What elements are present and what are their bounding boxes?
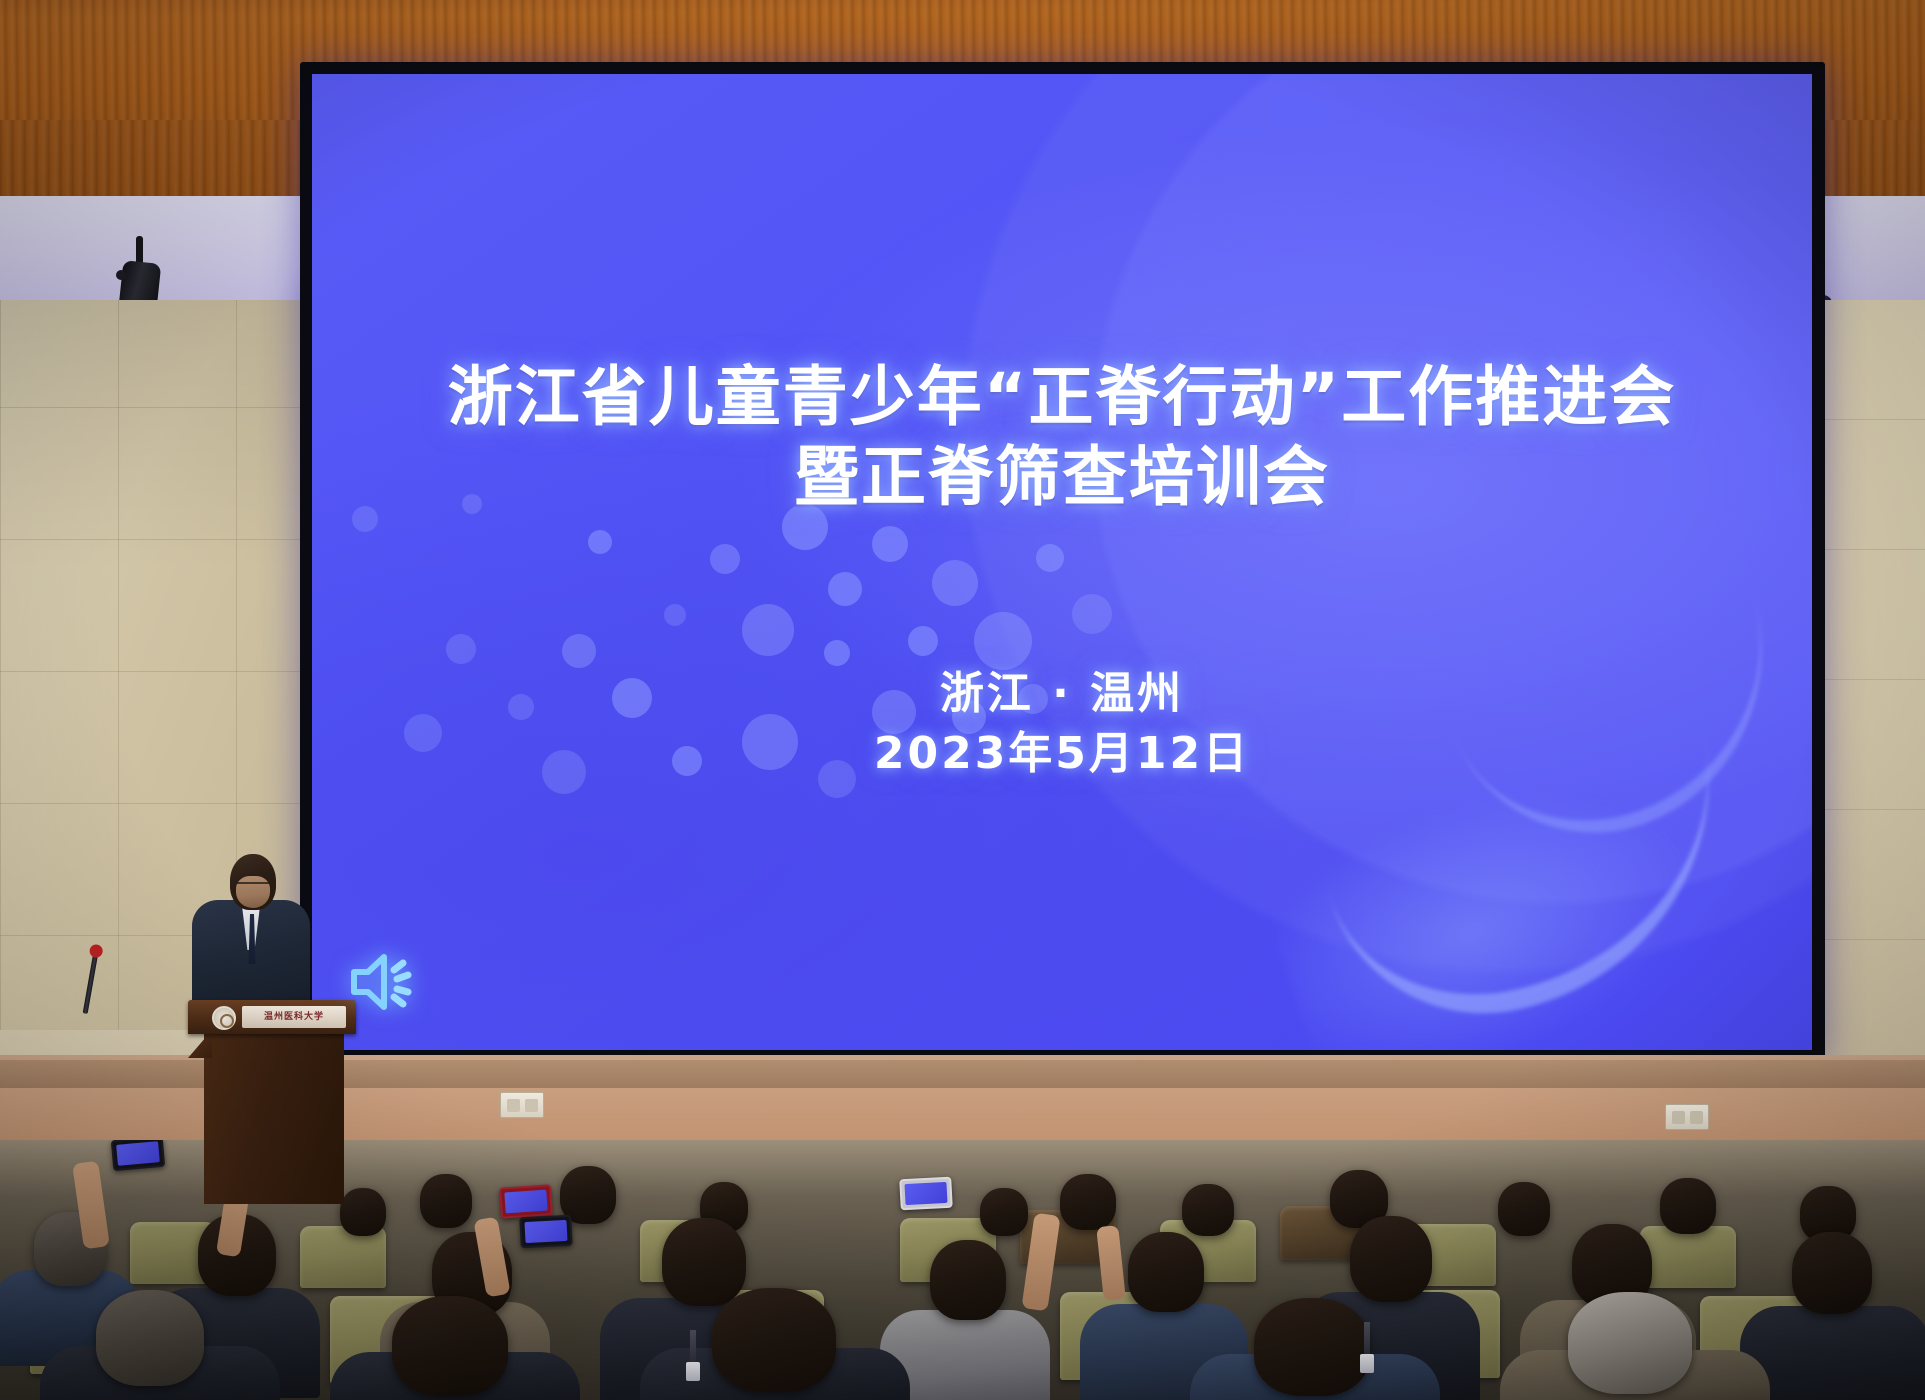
- podium-body: [204, 1032, 344, 1204]
- led-screen: 浙江省儿童青少年“正脊行动”工作推进会 暨正脊筛查培训会 浙江 · 温州 202…: [312, 74, 1812, 1050]
- audience-head: [1254, 1298, 1370, 1396]
- audience-head: [662, 1218, 746, 1306]
- date-text: 2023年5月12日: [312, 724, 1812, 784]
- audience-head: [392, 1296, 508, 1396]
- presenter-torso: [192, 900, 310, 1010]
- audience-head: [1060, 1174, 1116, 1230]
- presenter-head: [230, 854, 276, 910]
- audience-head: [980, 1188, 1028, 1236]
- audience-badge: [686, 1362, 700, 1381]
- audience-head: [1128, 1232, 1204, 1312]
- audience-arm: [1096, 1225, 1126, 1301]
- audience-head: [712, 1288, 836, 1392]
- audience-phone: [499, 1184, 553, 1219]
- title-line-1: 浙江省儿童青少年“正脊行动”工作推进会: [312, 358, 1812, 438]
- screen-content: 浙江省儿童青少年“正脊行动”工作推进会 暨正脊筛查培训会 浙江 · 温州 202…: [312, 74, 1812, 1050]
- audience-head: [1660, 1178, 1716, 1234]
- title-line-2: 暨正脊筛查培训会: [312, 438, 1812, 518]
- podium-emblem-icon: [212, 1006, 236, 1030]
- seat: [1640, 1226, 1736, 1288]
- audience-head: [1792, 1232, 1872, 1314]
- audience-lanyard: [1364, 1322, 1370, 1356]
- audience-head: [1350, 1216, 1432, 1302]
- presenter-face: [236, 876, 270, 908]
- audience-head: [930, 1240, 1006, 1320]
- audience-phone: [899, 1177, 953, 1211]
- podium-plate-text: 温州医科大学: [242, 1009, 346, 1022]
- audience-head: [1568, 1292, 1692, 1394]
- seat: [300, 1226, 386, 1288]
- audience-head: [96, 1290, 204, 1386]
- podium: 温州医科大学: [188, 1000, 356, 1200]
- audience-lanyard: [690, 1330, 696, 1364]
- presentation-subtitle: 浙江 · 温州 2023年5月12日: [312, 664, 1812, 784]
- presenter-glasses: [237, 882, 269, 890]
- speaker-volume-icon[interactable]: [348, 946, 418, 1018]
- wall-socket: [500, 1092, 544, 1118]
- wall-socket: [1665, 1104, 1709, 1130]
- audience-head: [1182, 1184, 1234, 1236]
- presentation-title: 浙江省儿童青少年“正脊行动”工作推进会 暨正脊筛查培训会: [312, 358, 1812, 518]
- audience-head: [1498, 1182, 1550, 1236]
- conference-hall-photo: 浙江省儿童青少年“正脊行动”工作推进会 暨正脊筛查培训会 浙江 · 温州 202…: [0, 0, 1925, 1400]
- audience-phone: [519, 1215, 573, 1249]
- audience-badge: [1360, 1354, 1374, 1373]
- location-text: 浙江 · 温州: [312, 664, 1812, 724]
- podium-top-surface: 温州医科大学: [188, 1000, 356, 1034]
- audience-head: [420, 1174, 472, 1228]
- audience-phone: [111, 1140, 166, 1171]
- podium-nameplate: 温州医科大学: [242, 1006, 346, 1028]
